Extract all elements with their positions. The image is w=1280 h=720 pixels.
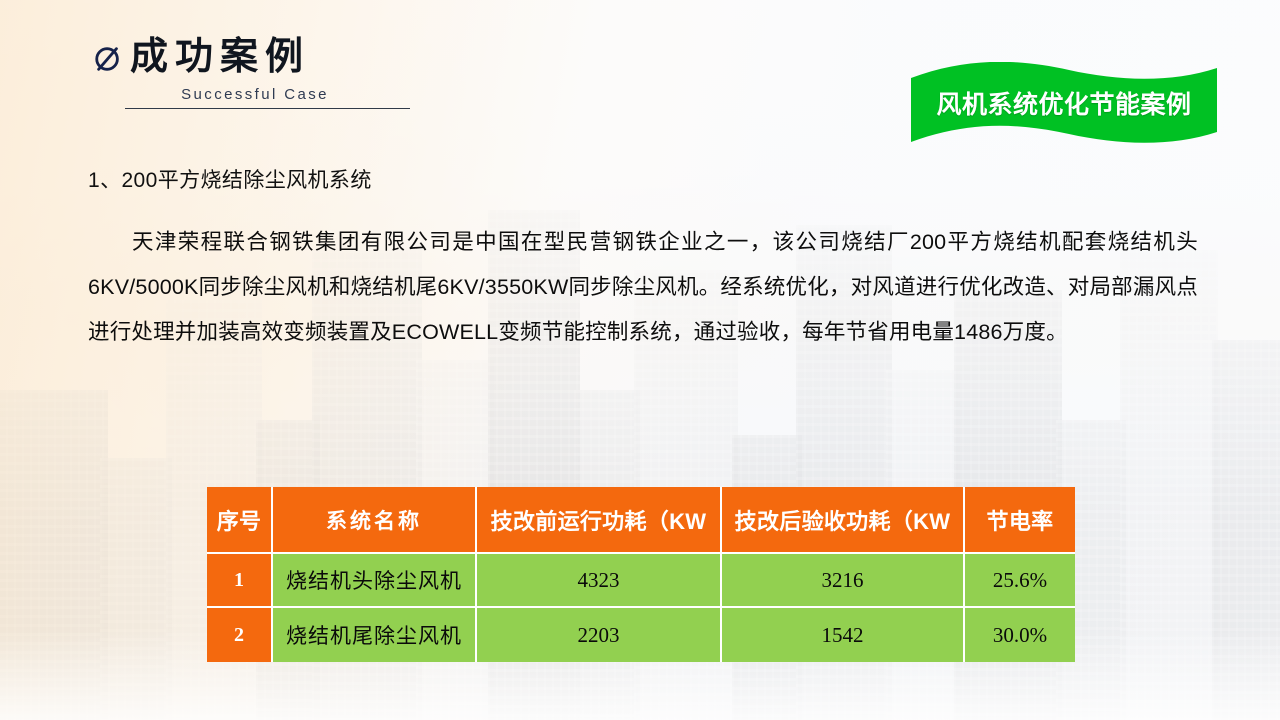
page-subtitle: Successful Case	[93, 86, 423, 103]
item-heading-line: 1、200平方烧结除尘风机系统	[88, 168, 1198, 194]
table-header: 序号 系统名称 技改前运行功耗（KW 技改后验收功耗（KW 节电率	[207, 487, 1075, 554]
table-body: 1 烧结机头除尘风机 4323 3216 25.6% 2 烧结机尾除尘风机 22…	[207, 554, 1075, 662]
table-column-power-after: 技改后验收功耗（KW	[722, 487, 965, 554]
heading-divider	[125, 108, 410, 109]
cell-power-before: 4323	[477, 554, 722, 608]
table-row: 2 烧结机尾除尘风机 2203 1542 30.0%	[207, 608, 1075, 662]
page-title: 成功案例	[130, 36, 310, 79]
table-column-index: 序号	[207, 487, 273, 554]
null-slash-icon	[93, 44, 123, 74]
table-header-row: 序号 系统名称 技改前运行功耗（KW 技改后验收功耗（KW 节电率	[207, 487, 1075, 554]
table-row: 1 烧结机头除尘风机 4323 3216 25.6%	[207, 554, 1075, 608]
page-heading: 成功案例 Successful Case	[93, 36, 423, 109]
cell-index: 2	[207, 608, 273, 662]
section-ribbon-banner: 风机系统优化节能案例	[905, 62, 1223, 148]
table-column-saving-rate: 节电率	[965, 487, 1075, 554]
cell-power-after: 3216	[722, 554, 965, 608]
table-column-system-name: 系统名称	[273, 487, 477, 554]
body-text-block: 1、200平方烧结除尘风机系统 天津荣程联合钢铁集团有限公司是中国在型民营钢铁企…	[88, 168, 1198, 355]
case-paragraph: 天津荣程联合钢铁集团有限公司是中国在型民营钢铁企业之一，该公司烧结厂200平方烧…	[88, 220, 1198, 355]
cell-saving-rate: 25.6%	[965, 554, 1075, 608]
energy-saving-table: 序号 系统名称 技改前运行功耗（KW 技改后验收功耗（KW 节电率 1 烧结机头…	[207, 487, 1075, 662]
ribbon-label: 风机系统优化节能案例	[905, 85, 1223, 121]
cell-system-name: 烧结机头除尘风机	[273, 554, 477, 608]
table-column-power-before: 技改前运行功耗（KW	[477, 487, 722, 554]
cell-index: 1	[207, 554, 273, 608]
cell-saving-rate: 30.0%	[965, 608, 1075, 662]
slide-root: 成功案例 Successful Case 风机系统优化节能案例 1、200平方烧…	[0, 0, 1280, 720]
cell-power-before: 2203	[477, 608, 722, 662]
cell-power-after: 1542	[722, 608, 965, 662]
cell-system-name: 烧结机尾除尘风机	[273, 608, 477, 662]
